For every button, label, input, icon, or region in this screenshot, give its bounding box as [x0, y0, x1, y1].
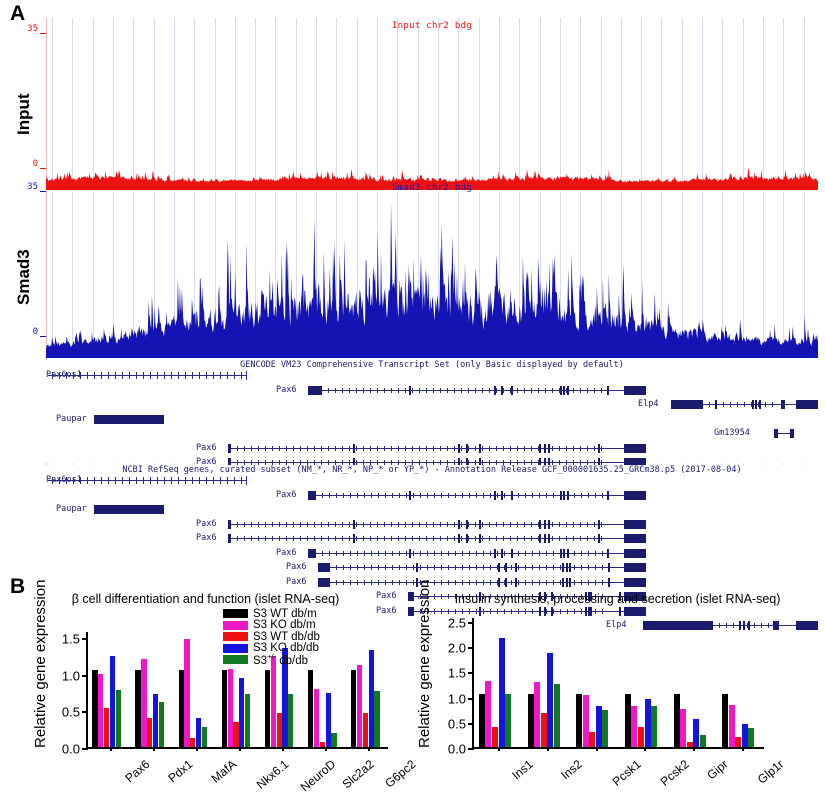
gene-row[interactable]: Pax6 — [46, 444, 818, 453]
strand-tick — [413, 551, 414, 556]
bar — [233, 722, 238, 747]
strand-tick — [164, 477, 165, 484]
strand-tick — [574, 551, 575, 556]
strand-tick — [461, 536, 462, 541]
strand-tick — [510, 446, 511, 451]
strand-tick — [552, 388, 553, 393]
x-tick — [368, 747, 370, 751]
gene-row[interactable]: Pax6 — [46, 491, 818, 500]
strand-tick — [108, 372, 109, 379]
strand-tick — [335, 522, 336, 527]
x-tick — [282, 747, 284, 751]
bar — [492, 727, 498, 747]
gene-exon — [752, 400, 754, 409]
strand-tick — [475, 522, 476, 527]
strand-tick — [580, 446, 581, 451]
gene-row[interactable]: Paupar — [46, 415, 818, 424]
x-tick — [498, 747, 500, 751]
strand-tick — [157, 372, 158, 379]
legend-swatch — [223, 609, 248, 618]
strand-tick — [241, 477, 242, 484]
bar — [589, 732, 595, 747]
strand-tick — [503, 522, 504, 527]
strand-tick — [469, 493, 470, 498]
strand-tick — [213, 372, 214, 379]
strand-tick — [343, 565, 344, 570]
strand-tick — [602, 551, 603, 556]
x-tick-label: Nkx6.1 — [254, 757, 292, 792]
strand-tick — [559, 536, 560, 541]
strand-tick — [419, 536, 420, 541]
gene-label: Pax6 — [276, 385, 296, 395]
strand-tick — [385, 551, 386, 556]
strand-tick — [300, 536, 301, 541]
gene-label: Pax6 — [276, 548, 296, 558]
gene-exon — [567, 549, 569, 558]
bar — [222, 670, 227, 748]
gene-exon-last — [624, 520, 646, 529]
strand-tick — [539, 551, 540, 556]
strand-tick — [413, 493, 414, 498]
strand-tick — [476, 551, 477, 556]
strand-tick — [241, 372, 242, 379]
strand-tick — [286, 446, 287, 451]
gene-exon-first — [228, 520, 231, 529]
strand-tick — [349, 388, 350, 393]
strand-tick — [531, 388, 532, 393]
strand-tick — [427, 551, 428, 556]
x-tick-label: Glp1r — [755, 757, 786, 787]
chart-title-left: β cell differentiation and function (isl… — [18, 592, 393, 606]
strand-tick — [489, 522, 490, 527]
gene-exon — [494, 549, 496, 558]
bar — [374, 691, 379, 747]
strand-tick — [455, 493, 456, 498]
gene-exon — [409, 491, 411, 500]
strand-tick — [59, 372, 60, 379]
gene-exon-last — [624, 491, 646, 500]
bar — [314, 689, 319, 747]
strand-tick — [59, 477, 60, 484]
gene-exon-first — [228, 444, 231, 453]
strand-tick — [573, 536, 574, 541]
bar — [141, 659, 146, 747]
strand-tick — [490, 493, 491, 498]
strand-tick — [73, 477, 74, 484]
strand-tick — [391, 388, 392, 393]
legend-label: S3 WT db/db — [253, 631, 320, 643]
strand-tick — [723, 402, 724, 407]
strand-tick — [420, 551, 421, 556]
strand-tick — [101, 372, 102, 379]
gene-row[interactable]: Pax6 — [46, 534, 818, 543]
strand-tick — [539, 493, 540, 498]
strand-tick — [601, 522, 602, 527]
gene-row[interactable]: Pax6 — [46, 520, 818, 529]
refseq-header: NCBI RefSeq genes, curated subset (NM_*,… — [46, 465, 818, 475]
strand-tick — [440, 388, 441, 393]
strand-tick — [518, 551, 519, 556]
gene-exon — [515, 563, 517, 572]
strand-tick — [398, 388, 399, 393]
strand-tick — [350, 493, 351, 498]
strand-tick — [279, 536, 280, 541]
input-signal — [46, 18, 818, 190]
bar — [680, 709, 686, 747]
gene-exon — [563, 386, 565, 395]
strand-tick — [462, 493, 463, 498]
strand-tick — [258, 446, 259, 451]
bar — [505, 694, 511, 747]
strand-tick — [244, 536, 245, 541]
strand-tick — [80, 372, 81, 379]
strand-tick — [531, 522, 532, 527]
strand-tick — [234, 372, 235, 379]
strand-tick — [286, 536, 287, 541]
gene-exon — [501, 549, 503, 558]
strand-tick — [122, 372, 123, 379]
gene-exon-last — [624, 563, 646, 572]
strand-tick — [496, 536, 497, 541]
strand-tick — [440, 446, 441, 451]
legend-item[interactable]: S3 WT db/m — [223, 608, 320, 620]
strand-tick — [363, 522, 364, 527]
gene-exon — [511, 386, 513, 395]
strand-tick — [448, 551, 449, 556]
bar — [277, 713, 282, 747]
strand-tick — [602, 493, 603, 498]
strand-tick — [441, 565, 442, 570]
strand-tick — [469, 551, 470, 556]
gene-exon — [494, 386, 496, 395]
strand-tick — [371, 493, 372, 498]
bar — [687, 742, 693, 747]
legend-swatch — [223, 632, 248, 641]
gene-exon — [715, 400, 717, 409]
gene-exon — [353, 444, 355, 453]
strand-tick — [300, 446, 301, 451]
legend-swatch — [223, 621, 248, 630]
gene-intron-line — [308, 390, 646, 391]
x-tick-label: Slc2a2 — [340, 757, 377, 791]
strand-tick — [206, 477, 207, 484]
strand-tick — [129, 372, 130, 379]
strand-tick — [419, 446, 420, 451]
gene-label: Paupar — [56, 504, 87, 514]
x-tick — [239, 747, 241, 751]
gene-exon — [607, 491, 609, 500]
bar — [674, 694, 680, 747]
smad3-signal — [46, 192, 818, 358]
bar — [202, 727, 207, 747]
gene-exon — [458, 444, 460, 453]
strand-tick — [510, 536, 511, 541]
gene-exon — [563, 491, 565, 500]
x-tick — [596, 747, 598, 751]
gene-exon — [759, 400, 761, 409]
strand-tick — [178, 477, 179, 484]
bar — [331, 733, 336, 747]
strand-tick — [378, 551, 379, 556]
gene-row[interactable]: Pax6 — [46, 563, 818, 572]
strand-tick — [164, 372, 165, 379]
strand-tick — [157, 477, 158, 484]
strand-tick — [356, 388, 357, 393]
gene-exon — [774, 429, 778, 438]
bar — [351, 670, 356, 747]
strand-tick — [115, 477, 116, 484]
strand-tick — [336, 493, 337, 498]
strand-tick — [199, 477, 200, 484]
gene-intron-line — [318, 567, 646, 568]
track-smad3[interactable]: Smad3 chr2 bdg — [46, 192, 818, 358]
strand-tick — [476, 565, 477, 570]
gene-exon — [567, 491, 569, 500]
bar — [308, 670, 313, 747]
legend-item[interactable]: S3 WT db/db — [223, 631, 320, 643]
gene-label: Elp4 — [638, 399, 658, 409]
bar — [479, 694, 485, 747]
strand-tick — [237, 536, 238, 541]
gene-exon — [501, 491, 503, 500]
gene-label: Pax6 — [196, 443, 216, 453]
strand-tick — [314, 522, 315, 527]
gene-exon — [466, 534, 468, 543]
strand-tick — [454, 446, 455, 451]
bar — [104, 708, 109, 747]
bar — [528, 694, 534, 747]
strand-tick — [384, 388, 385, 393]
strand-tick — [398, 522, 399, 527]
strand-tick — [336, 565, 337, 570]
bar — [92, 670, 97, 747]
bar — [179, 670, 184, 747]
gene-intron-line — [228, 448, 646, 449]
strand-tick — [370, 446, 371, 451]
strand-tick — [244, 522, 245, 527]
strand-tick — [552, 446, 553, 451]
strand-tick — [342, 388, 343, 393]
strand-tick — [552, 536, 553, 541]
strand-tick — [440, 536, 441, 541]
strand-tick — [336, 551, 337, 556]
chart-title-right: Insulin synthesis, processing and secret… — [410, 592, 825, 606]
strand-tick — [518, 493, 519, 498]
chart-ylabel-left: Relative gene expression — [32, 580, 49, 748]
x-tick — [742, 747, 744, 751]
strand-tick — [371, 565, 372, 570]
strand-tick — [129, 477, 130, 484]
bar — [190, 738, 195, 747]
strand-tick — [574, 565, 575, 570]
strand-tick — [538, 388, 539, 393]
strand-tick — [227, 372, 228, 379]
strand-tick — [433, 522, 434, 527]
x-tick — [110, 747, 112, 751]
bar — [499, 638, 505, 747]
gencode-track[interactable]: GENCODE VM23 Comprehensive Transcript Se… — [46, 360, 818, 463]
gene-exon-first — [308, 491, 316, 500]
legend-item[interactable]: S3 KO db/m — [223, 620, 320, 632]
bar — [596, 706, 602, 747]
strand-tick — [237, 522, 238, 527]
strand-tick — [566, 536, 567, 541]
gene-exon — [598, 534, 600, 543]
strand-tick — [342, 446, 343, 451]
strand-tick — [419, 522, 420, 527]
strand-tick — [199, 372, 200, 379]
strand-tick — [405, 388, 406, 393]
strand-tick — [434, 565, 435, 570]
strand-tick — [602, 565, 603, 570]
strand-tick — [553, 565, 554, 570]
strand-tick — [517, 388, 518, 393]
y-tick-label: 1.0 — [62, 668, 80, 683]
gene-label: Pax6 — [276, 490, 296, 500]
strand-tick — [419, 388, 420, 393]
strand-tick — [272, 446, 273, 451]
strand-tick — [469, 565, 470, 570]
gene-exon — [479, 534, 481, 543]
strand-tick — [384, 446, 385, 451]
strand-tick — [371, 551, 372, 556]
gene-exon — [755, 400, 757, 409]
strand-tick — [356, 536, 357, 541]
strand-tick — [433, 446, 434, 451]
gene-row[interactable]: Elp4 — [46, 400, 818, 409]
bar — [554, 684, 560, 747]
gene-row[interactable]: Paupar — [46, 505, 818, 514]
strand-tick — [601, 536, 602, 541]
gene-label: Pax6 — [286, 562, 306, 572]
gene-exon — [544, 444, 546, 453]
x-tick-label: Ins2 — [558, 757, 584, 782]
gene-exon — [790, 429, 794, 438]
strand-tick — [343, 493, 344, 498]
strand-tick — [52, 372, 53, 379]
bar — [645, 699, 651, 747]
strand-tick — [581, 493, 582, 498]
gene-exon — [544, 520, 546, 529]
strand-tick — [378, 493, 379, 498]
strand-tick — [566, 522, 567, 527]
input-axis-max: 35 — [0, 24, 38, 34]
bar — [135, 670, 140, 747]
y-tick-label: 0.5 — [62, 705, 80, 720]
chart-beta-cell[interactable]: β cell differentiation and function (isl… — [18, 572, 393, 794]
strand-tick — [455, 551, 456, 556]
gene-exon — [548, 520, 550, 529]
refseq-track[interactable]: NCBI RefSeq genes, curated subset (NM_*,… — [46, 465, 818, 568]
gene-exon — [479, 444, 481, 453]
strand-tick — [237, 446, 238, 451]
strand-tick — [594, 446, 595, 451]
strand-tick — [482, 388, 483, 393]
x-tick-label: MafA — [208, 757, 238, 786]
strand-tick — [447, 446, 448, 451]
gene-row[interactable]: Pax6os1 — [46, 371, 818, 380]
gene-exon — [560, 549, 562, 558]
strand-tick — [321, 446, 322, 451]
strand-tick — [108, 477, 109, 484]
strand-tick — [525, 565, 526, 570]
strand-tick — [524, 522, 525, 527]
strand-tick — [441, 493, 442, 498]
strand-tick — [496, 522, 497, 527]
strand-tick — [412, 522, 413, 527]
y-tick-label: 1.5 — [62, 632, 80, 647]
strand-tick — [244, 446, 245, 451]
strand-tick — [588, 493, 589, 498]
gene-row[interactable]: Pax6 — [46, 549, 818, 558]
bar — [369, 650, 374, 747]
strand-tick — [227, 477, 228, 484]
strand-tick — [595, 565, 596, 570]
bar — [576, 694, 582, 747]
genome-browser[interactable]: Input chr2 bdg Smad3 chr2 bdg GENCODE VM… — [46, 18, 818, 568]
track-input[interactable]: Input chr2 bdg — [46, 18, 818, 190]
strand-tick — [559, 522, 560, 527]
legend-item[interactable]: S3+/- db/db — [223, 654, 320, 666]
chart-insulin[interactable]: Insulin synthesis, processing and secret… — [410, 572, 825, 794]
bar — [602, 710, 608, 747]
strand-tick — [433, 388, 434, 393]
strand-tick — [447, 522, 448, 527]
strand-tick — [384, 536, 385, 541]
y-tick — [82, 748, 88, 750]
strand-tick — [286, 522, 287, 527]
gene-exon — [566, 563, 568, 572]
strand-tick — [398, 536, 399, 541]
bar — [357, 665, 362, 747]
strand-tick — [150, 477, 151, 484]
strand-tick — [482, 522, 483, 527]
gene-row[interactable]: Pax6os1 — [46, 476, 818, 485]
gene-exon — [409, 386, 411, 395]
plot-area-right: 0.00.51.01.52.02.5Ins1Ins2Pcsk1Pcsk2Gipr… — [472, 618, 764, 749]
strand-tick — [461, 446, 462, 451]
strand-tick — [594, 388, 595, 393]
strand-tick — [357, 493, 358, 498]
strand-tick — [192, 372, 193, 379]
strand-tick — [370, 536, 371, 541]
y-tick-label: 0.5 — [448, 716, 466, 731]
strand-tick — [587, 446, 588, 451]
strand-tick — [314, 536, 315, 541]
strand-tick — [553, 551, 554, 556]
legend-swatch — [223, 655, 248, 664]
strand-tick — [587, 536, 588, 541]
strand-tick — [454, 536, 455, 541]
track-label-input: Input — [14, 93, 34, 135]
strand-tick — [293, 446, 294, 451]
chart-legend[interactable]: S3 WT db/mS3 KO db/mS3 WT db/dbS3 KO db/… — [223, 608, 320, 666]
gene-exon-last — [796, 400, 818, 409]
y-tick — [82, 675, 88, 677]
strand-tick — [265, 522, 266, 527]
strand-tick — [539, 565, 540, 570]
strand-tick — [455, 565, 456, 570]
gene-row[interactable]: Gm13954 — [46, 429, 818, 438]
strand-tick — [524, 536, 525, 541]
strand-tick — [588, 551, 589, 556]
gene-label: Paupar — [56, 414, 87, 424]
strand-tick — [101, 477, 102, 484]
strand-tick — [426, 446, 427, 451]
gene-row[interactable]: Pax6 — [46, 386, 818, 395]
gene-exon — [94, 415, 164, 424]
strand-tick — [462, 551, 463, 556]
